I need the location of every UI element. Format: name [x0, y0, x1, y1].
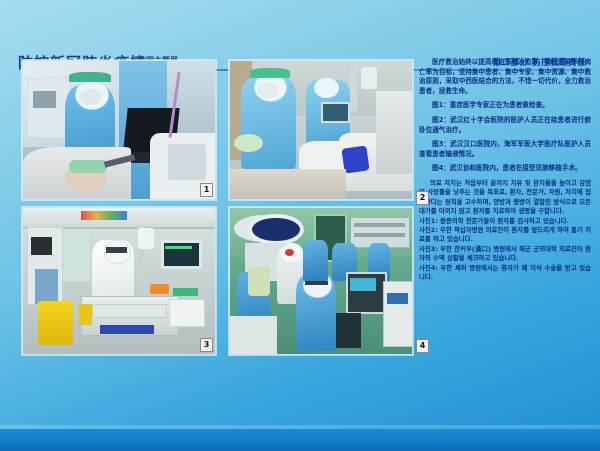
dark-equipment	[336, 313, 361, 348]
ko-caption-3: 사진3: 우한 한커우(漢口) 병원에서 해군 군의대학 의료진이 환자의 수액…	[419, 245, 591, 264]
ko-intro-paragraph: 의료 처치는 처음부터 끝까지 치유 및 완치율을 높이고 감염 및 사망률을 …	[419, 179, 591, 217]
photo-4-scene	[230, 208, 412, 354]
supply-shelf	[63, 231, 90, 281]
nurse-cap	[250, 68, 290, 78]
surgical-lamp	[248, 214, 303, 245]
cart-display	[387, 293, 409, 305]
monitor-screen	[33, 91, 56, 108]
zh-caption-2: 图2：武汉红十字会医院的医护人员正在给患者进行俯卧位通气治疗。	[419, 116, 591, 135]
photo-3-scene	[23, 208, 215, 354]
ecg-trace	[165, 246, 192, 249]
zh-caption-4: 图4：武汉协和医院内，患者在接受双肺移植手术。	[419, 164, 591, 174]
surgical-cap	[69, 72, 111, 82]
zh-intro-paragraph: 医疗救治始终以提高收治率和治愈率、降低感染率和病亡率为目标，坚持集中患者、集中专…	[419, 58, 591, 96]
photo-1: 1	[22, 60, 216, 200]
green-tray	[173, 288, 198, 295]
bed-blue-stripe	[100, 325, 154, 334]
ko-caption-1: 사진1: 중증의학 전문가들이 환자를 검사하고 있습니다.	[419, 217, 591, 226]
photo-2	[229, 60, 413, 200]
goggles	[106, 247, 127, 253]
zh-caption-3: 图3：武汉汉口医院内，海军军医大学医疗队医护人员查看患者输液情况。	[419, 140, 591, 159]
header: 防控新冠肺炎疫情 中国主题展 第二部分 防控就是责任	[0, 22, 600, 56]
hood-red-mark	[285, 249, 294, 256]
photo-4	[229, 207, 413, 355]
bedside-monitor	[321, 102, 350, 123]
orange-container	[150, 284, 169, 294]
photo-number-badge: 1	[200, 183, 213, 197]
staff-blue-3	[303, 240, 328, 281]
ko-caption-2: 사진2: 우한 적십자병원 의료진이 환자를 엎드리게 하여 통기 치료를 하고…	[419, 226, 591, 245]
yellow-waste-bin	[38, 301, 73, 345]
oxygen-mask	[69, 160, 107, 172]
supply-trolley	[169, 299, 206, 327]
anesthesia-cart	[383, 281, 413, 347]
mask	[79, 89, 102, 106]
photo-number-badge: 2	[416, 191, 429, 205]
iv-bottle	[138, 228, 153, 248]
bed-drawer	[92, 304, 167, 318]
iv-bag	[361, 67, 377, 89]
photo-3: 3	[22, 207, 216, 355]
caption-text-column: 医疗救治始终以提高收治率和治愈率、降低感染率和病亡率为目标，坚持集中患者、集中专…	[419, 58, 591, 430]
iv-pole	[350, 64, 357, 111]
staff-goggles	[305, 281, 329, 285]
photo-number-badge: 4	[416, 339, 429, 353]
bed-head	[376, 91, 412, 174]
vital-monitor	[161, 240, 202, 269]
rail-color-strip	[81, 211, 127, 220]
bed-rail-frame	[165, 141, 209, 183]
cabinet-shelf-2	[354, 233, 405, 237]
machine-screen	[350, 278, 375, 291]
photo-2-scene	[230, 61, 412, 199]
blue-curtain	[35, 269, 58, 304]
photo-1-scene	[23, 61, 215, 199]
equipment-foreground	[230, 316, 277, 354]
exhibition-panel: 防控新冠肺炎疫情 中国主题展 第二部分 防控就是责任 1	[0, 0, 600, 451]
fluid-bag	[248, 266, 270, 295]
bed-foot	[230, 169, 346, 199]
rack-screen	[31, 237, 52, 255]
ko-caption-4: 사진4: 우한 셰허 병원에서는 환자가 폐 이식 수술을 받고 있습니다.	[419, 264, 591, 283]
bottom-bar	[0, 429, 600, 451]
zh-caption-1: 图1：重症医学专家正在为患者做检查。	[419, 101, 591, 111]
cabinet-shelf-1	[354, 223, 405, 227]
small-yellow-bin	[79, 304, 92, 324]
gloved-hand	[234, 134, 263, 152]
photo-number-badge: 3	[200, 338, 213, 352]
